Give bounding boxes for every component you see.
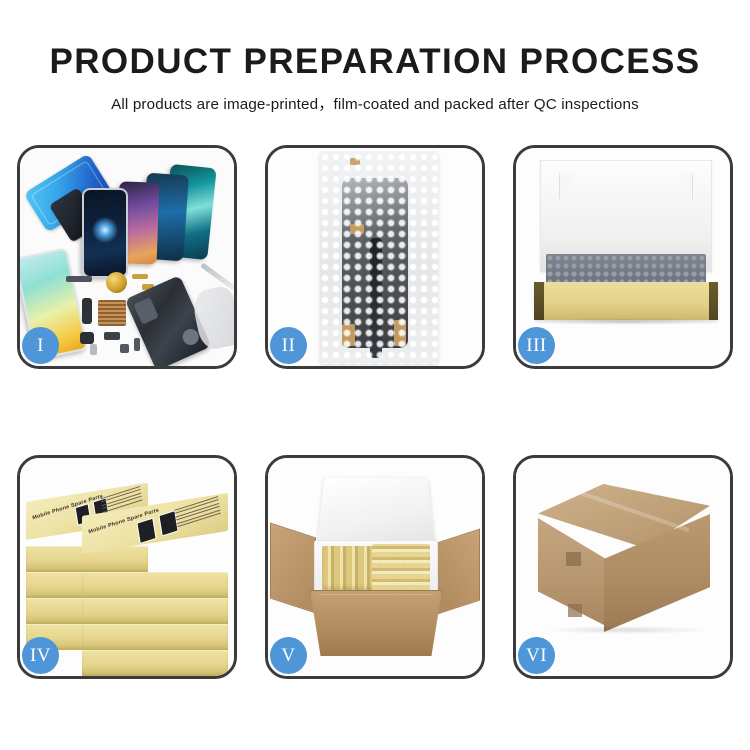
sim-tray-icon	[90, 344, 97, 355]
phone-glass-icon	[82, 188, 128, 278]
carton-tape-1-icon	[566, 552, 581, 566]
chip-part-icon	[66, 276, 92, 282]
copper-grid-part-icon	[98, 300, 126, 326]
product-preparation-process-page: PRODUCT PREPARATION PROCESS All products…	[0, 0, 750, 750]
bubble-wrap-bag-icon	[320, 152, 438, 364]
speaker-part-icon	[120, 344, 129, 353]
carton-flap-left-icon	[270, 523, 316, 614]
process-step-panel-4[interactable]: Mobile Phone Spare Parts Mob	[17, 455, 237, 679]
coil-part-icon	[106, 272, 127, 293]
foam-lid-icon	[316, 477, 436, 546]
lens-part-icon	[80, 332, 94, 344]
step-badge-5: V	[270, 637, 307, 674]
process-step-grid: I II	[17, 145, 733, 679]
box-text-lines-right	[175, 496, 222, 531]
process-step-panel-1[interactable]: I	[17, 145, 237, 369]
process-step-panel-5[interactable]: V	[265, 455, 485, 679]
flex-cable-icon	[82, 298, 92, 324]
carton-rim-line	[318, 594, 434, 595]
button-part-icon	[134, 338, 140, 351]
page-subtitle: All products are image-printed，film-coat…	[0, 82, 750, 114]
yellow-box-base-icon	[534, 282, 718, 320]
lid-tab-left-icon	[559, 173, 571, 199]
step-badge-6: VI	[518, 637, 555, 674]
carton-flap-right-icon	[434, 529, 480, 616]
lid-tab-right-icon	[681, 173, 693, 199]
bubble-texture-overlay	[320, 152, 438, 364]
process-step-panel-2[interactable]: II	[265, 145, 485, 369]
step-badge-1: I	[22, 327, 59, 364]
box-stack-right: Mobile Phone Spare Parts	[82, 516, 228, 676]
header: PRODUCT PREPARATION PROCESS All products…	[0, 0, 750, 114]
gold-connector-icon	[132, 274, 148, 279]
process-step-panel-3[interactable]: III	[513, 145, 733, 369]
phone-print-right-1-icon	[136, 518, 156, 545]
page-title: PRODUCT PREPARATION PROCESS	[0, 0, 750, 82]
carton-body-icon	[310, 590, 442, 656]
carton-shadow	[546, 626, 706, 634]
box-shadow	[538, 318, 714, 325]
step-badge-4: IV	[22, 637, 59, 674]
process-step-panel-6[interactable]: VI	[513, 455, 733, 679]
step-badge-3: III	[518, 327, 555, 364]
yellow-boxes-inside-2-icon	[372, 544, 430, 590]
step-badge-2: II	[270, 327, 307, 364]
camera-module-icon	[104, 332, 120, 340]
carton-tape-2-icon	[568, 604, 582, 617]
